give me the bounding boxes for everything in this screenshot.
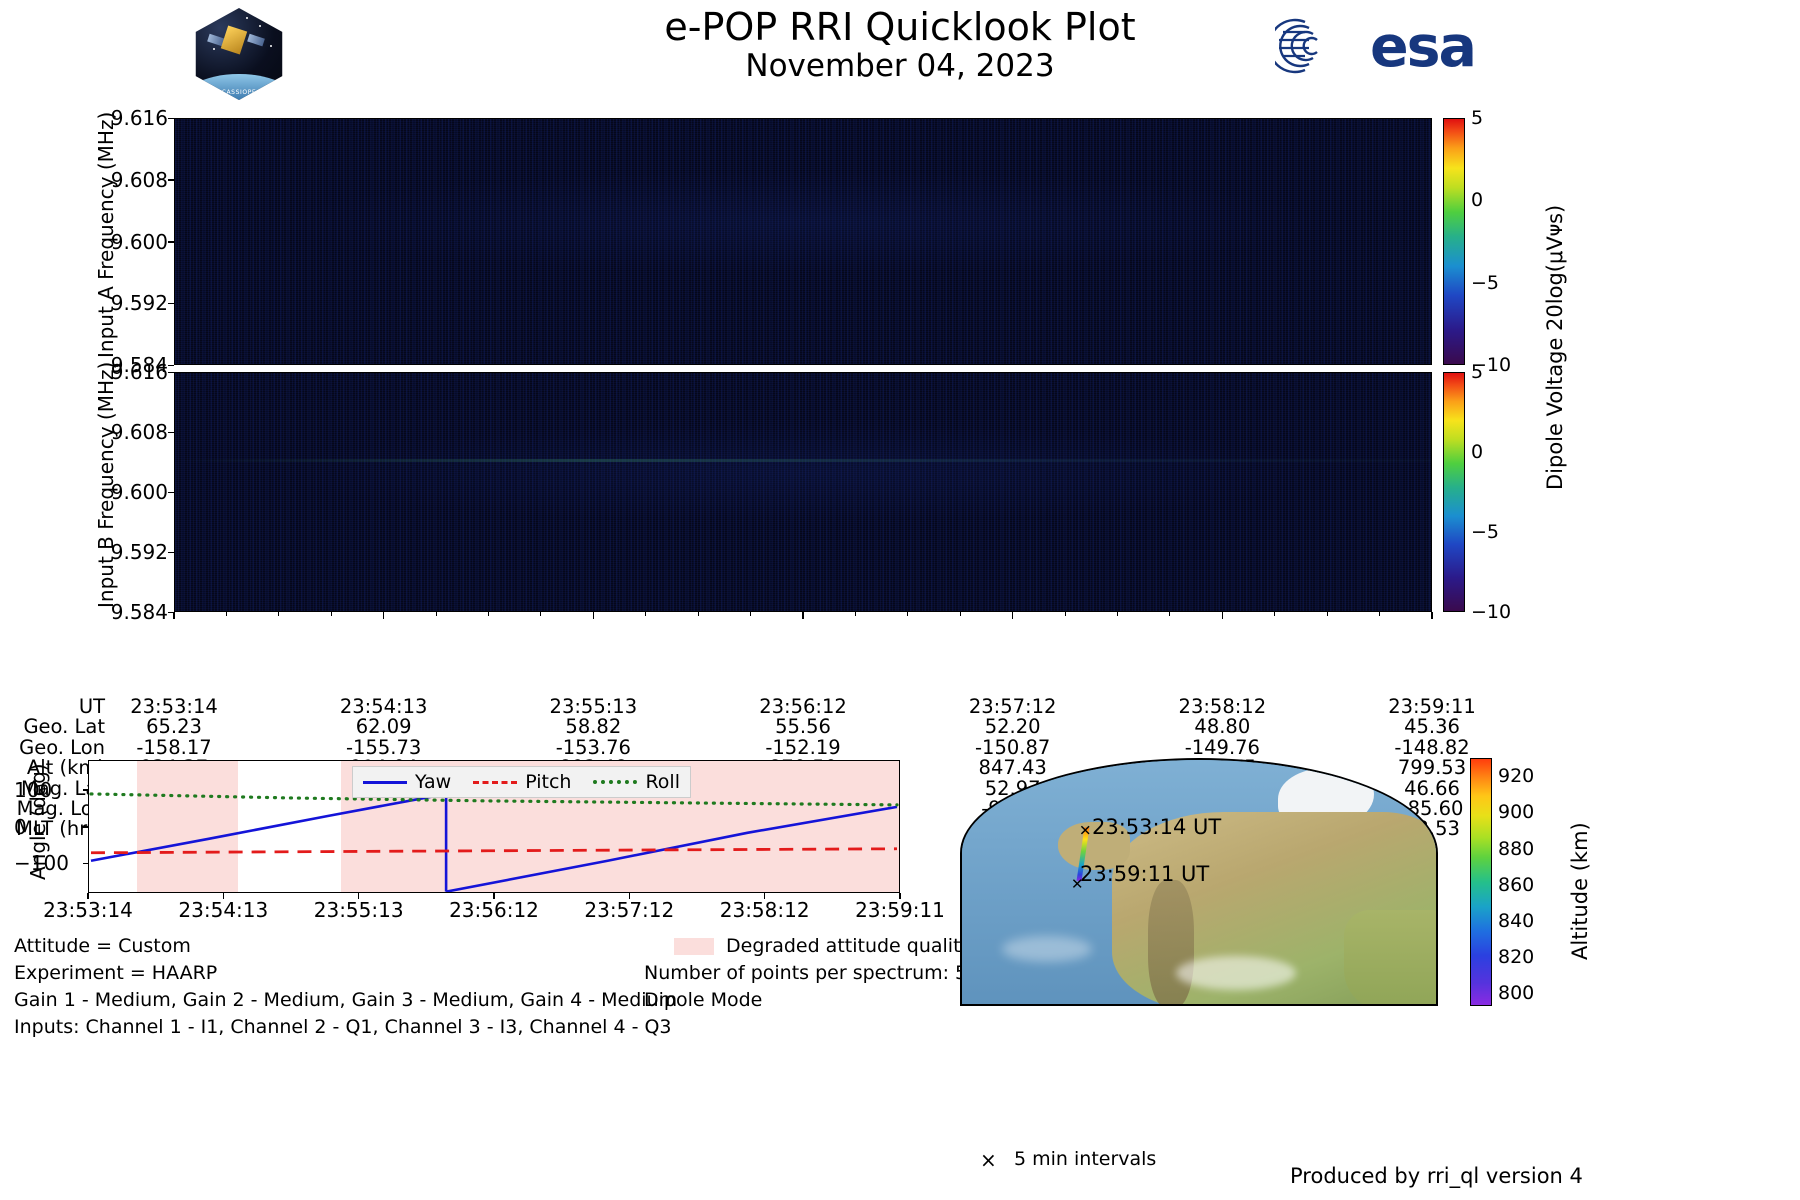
attitude-ytick-mark <box>83 789 88 791</box>
axis-minor-tick <box>436 612 437 616</box>
spectrogram-a-data <box>175 119 1431 364</box>
svg-text:✕: ✕ <box>1079 821 1091 839</box>
altitude-tick-label: 840 <box>1498 910 1534 932</box>
axis-tick-mark <box>1012 612 1014 619</box>
legend-line-swatch <box>593 780 637 784</box>
attitude-xtick-label: 23:55:13 <box>314 898 404 922</box>
attitude-xtick-label: 23:59:11 <box>855 898 945 922</box>
legend-entry-pitch: Pitch <box>473 771 571 793</box>
ephemeris-row: UT23:53:1423:54:1323:55:1323:56:1223:57:… <box>0 695 1500 715</box>
axis-tick-label: 9.616 <box>96 360 168 384</box>
note-gains: Gain 1 - Medium, Gain 2 - Medium, Gain 3… <box>14 989 677 1011</box>
axis-tick-mark <box>168 552 174 554</box>
pitch-line <box>91 849 897 853</box>
colorbar-b <box>1443 372 1465 612</box>
attitude-legend: YawPitchRoll <box>352 766 691 798</box>
axis-minor-tick <box>488 612 489 616</box>
colorbar-tick-label: −5 <box>1471 521 1499 543</box>
attitude-xtick-mark <box>764 893 766 899</box>
altitude-tick-label: 900 <box>1498 801 1534 823</box>
attitude-xtick-label: 23:57:12 <box>584 898 674 922</box>
esa-logo-icon: esa <box>1275 12 1475 78</box>
axis-minor-tick <box>1117 612 1118 616</box>
axis-tick-label: 9.608 <box>96 420 168 444</box>
legend-label: Yaw <box>415 771 451 793</box>
axis-minor-tick <box>1379 612 1380 616</box>
altitude-colorbar-title: Altitude (km) <box>1568 822 1592 960</box>
axis-tick-mark <box>173 612 175 619</box>
attitude-ytick-label: 0 <box>14 815 80 839</box>
altitude-tick-label: 880 <box>1498 838 1534 860</box>
axis-minor-tick <box>278 612 279 616</box>
axis-minor-tick <box>1274 612 1275 616</box>
attitude-xtick-mark <box>493 893 495 899</box>
attitude-xtick-label: 23:58:12 <box>720 898 810 922</box>
cassiope-logo-icon: CASSIOPE <box>193 8 285 100</box>
attitude-ytick-mark <box>83 826 88 828</box>
axis-tick-label: 9.584 <box>96 600 168 624</box>
ephemeris-row: Geo. Lat65.2362.0958.8255.5652.2048.8045… <box>0 715 1500 735</box>
axis-tick-mark <box>168 303 174 305</box>
note-experiment: Experiment = HAARP <box>14 962 217 984</box>
note-dipole-mode: Dipole Mode <box>644 989 762 1011</box>
axis-minor-tick <box>698 612 699 616</box>
colorbar-tick-label: 5 <box>1471 361 1483 383</box>
axis-tick-mark <box>593 612 595 619</box>
altitude-tick-label: 920 <box>1498 765 1534 787</box>
axis-tick-label: 9.616 <box>96 106 168 130</box>
axis-tick-mark <box>168 241 174 243</box>
note-produced-by: Produced by rri_ql version 4 <box>1290 1164 1583 1188</box>
attitude-ytick-label: 100 <box>14 778 80 802</box>
axis-minor-tick <box>960 612 961 616</box>
axis-minor-tick <box>645 612 646 616</box>
axis-tick-mark <box>168 492 174 494</box>
axis-minor-tick <box>1169 612 1170 616</box>
altitude-tick-label: 860 <box>1498 874 1534 896</box>
legend-line-swatch <box>363 781 407 784</box>
colorbar-title: Dipole Voltage 20log(μVᴪs) <box>1543 205 1567 490</box>
attitude-xtick-mark <box>629 893 631 899</box>
axis-tick-label: 9.608 <box>96 168 168 192</box>
attitude-xtick-label: 23:53:14 <box>43 898 133 922</box>
axis-minor-tick <box>1065 612 1066 616</box>
note-points-per-spectrum: Number of points per spectrum: 5208 <box>644 962 1003 984</box>
attitude-xtick-label: 23:56:12 <box>449 898 539 922</box>
spectrogram-input-b <box>174 372 1432 612</box>
map-interval-marker: × <box>980 1148 997 1172</box>
attitude-xtick-mark <box>899 893 901 899</box>
altitude-tick-label: 800 <box>1498 982 1534 1004</box>
axis-minor-tick <box>226 612 227 616</box>
note-inputs: Inputs: Channel 1 - I1, Channel 2 - Q1, … <box>14 1016 672 1038</box>
legend-line-swatch <box>473 781 517 784</box>
degraded-quality-swatch <box>674 938 714 955</box>
axis-tick-label: 9.592 <box>96 540 168 564</box>
map-interval-label: 5 min intervals <box>1014 1148 1156 1170</box>
spectrogram-b-data <box>175 373 1431 611</box>
colorbar-tick-label: 0 <box>1471 189 1483 211</box>
axis-tick-mark <box>802 612 804 619</box>
colorbar-tick-label: −5 <box>1471 272 1499 294</box>
map-start-label: 23:53:14 UT <box>1092 815 1221 839</box>
legend-entry-roll: Roll <box>593 771 680 793</box>
cassiope-logo-label: CASSIOPE <box>193 89 285 96</box>
attitude-ytick-label: −100 <box>14 851 80 875</box>
colorbar-tick-label: 0 <box>1471 441 1483 463</box>
axis-tick-mark <box>168 372 174 374</box>
axis-minor-tick <box>331 612 332 616</box>
axis-minor-tick <box>750 612 751 616</box>
esa-wordmark: esa <box>1370 14 1475 80</box>
legend-entry-yaw: Yaw <box>363 771 451 793</box>
esa-swirl-icon <box>1275 18 1361 74</box>
spectrogram-input-a <box>174 118 1432 365</box>
axis-tick-mark <box>168 118 174 120</box>
map-end-label: 23:59:11 UT <box>1080 862 1209 886</box>
axis-tick-mark <box>168 432 174 434</box>
axis-tick-label: 9.600 <box>96 230 168 254</box>
axis-minor-tick <box>855 612 856 616</box>
colorbar-tick-label: 5 <box>1471 107 1483 129</box>
legend-label: Pitch <box>525 771 571 793</box>
legend-label: Roll <box>645 771 680 793</box>
altitude-tick-label: 820 <box>1498 946 1534 968</box>
attitude-xtick-label: 23:54:13 <box>178 898 268 922</box>
attitude-ytick-mark <box>83 863 88 865</box>
axis-tick-mark <box>1431 612 1433 619</box>
axis-minor-tick <box>540 612 541 616</box>
attitude-xtick-mark <box>223 893 225 899</box>
axis-minor-tick <box>1327 612 1328 616</box>
axis-tick-mark <box>1222 612 1224 619</box>
axis-tick-mark <box>168 179 174 181</box>
axis-tick-mark <box>168 365 174 367</box>
axis-minor-tick <box>907 612 908 616</box>
note-attitude: Attitude = Custom <box>14 935 191 957</box>
note-degraded-legend: Degraded attitude quality <box>726 935 972 957</box>
altitude-colorbar <box>1470 758 1492 1006</box>
colorbar-tick-label: −10 <box>1471 601 1511 623</box>
ephemeris-row: Geo. Lon-158.17-155.73-153.76-152.19-150… <box>0 736 1500 756</box>
attitude-xtick-mark <box>358 893 360 899</box>
attitude-xtick-mark <box>87 893 89 899</box>
axis-tick-mark <box>383 612 385 619</box>
axis-tick-label: 9.592 <box>96 291 168 315</box>
colorbar-a <box>1443 118 1465 365</box>
axis-tick-label: 9.600 <box>96 480 168 504</box>
